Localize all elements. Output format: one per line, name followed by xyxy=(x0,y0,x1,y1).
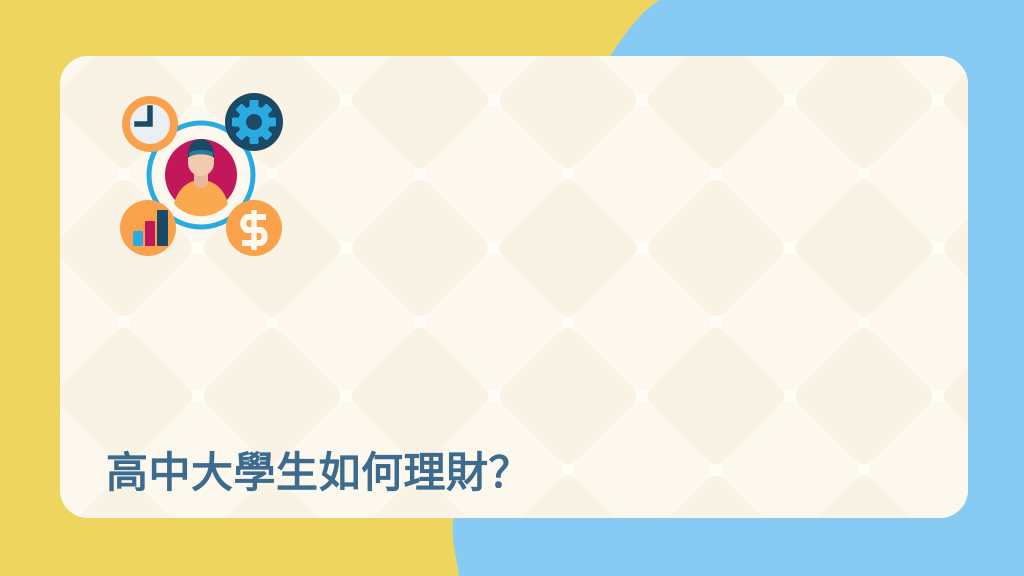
headline: 高中大學生如何理財？ 我這 7 年就靠這套 SOP xyxy=(106,324,866,518)
content-card: 高中大學生如何理財？ 我這 7 年就靠這套 SOP xyxy=(60,56,968,518)
personal-finance-icon-cluster xyxy=(106,80,296,270)
dollar-icon xyxy=(226,200,282,256)
headline-line-1: 高中大學生如何理財？ xyxy=(106,443,866,503)
bar-chart-icon xyxy=(120,200,176,256)
gear-icon xyxy=(225,93,283,151)
person-avatar-icon xyxy=(165,139,237,216)
clock-icon xyxy=(122,96,178,152)
slide-canvas: 高中大學生如何理財？ 我這 7 年就靠這套 SOP xyxy=(0,0,1024,576)
